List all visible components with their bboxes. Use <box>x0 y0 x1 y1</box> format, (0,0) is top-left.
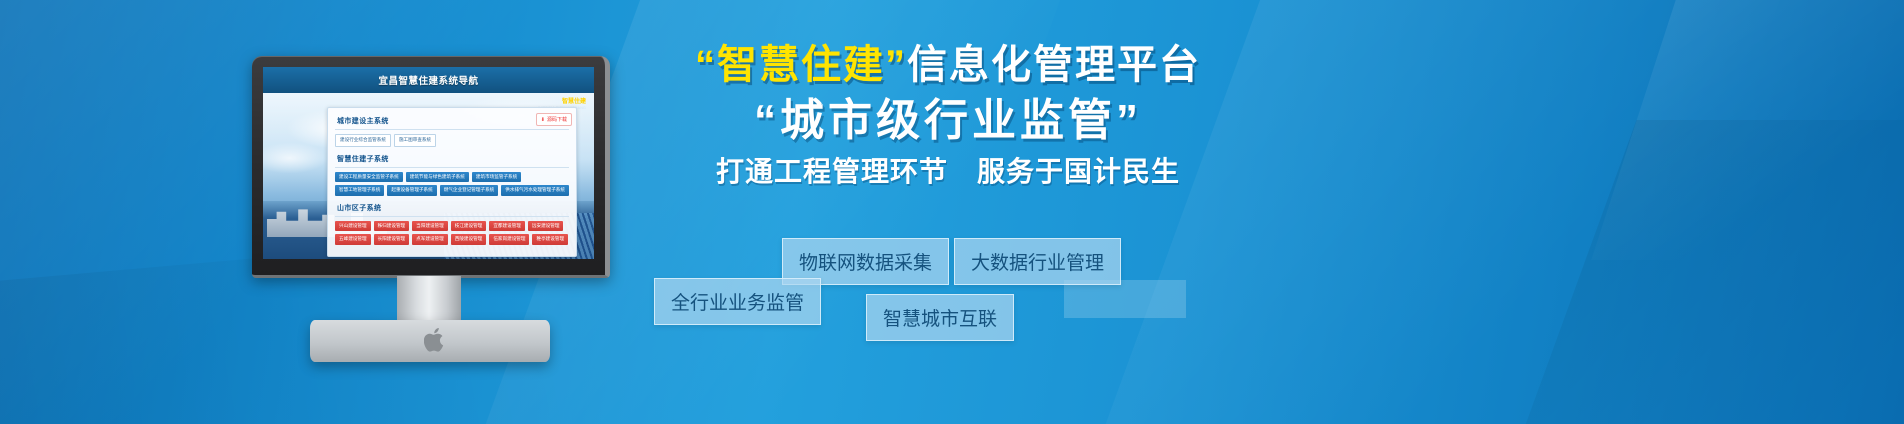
nav-chip[interactable]: 西陵建设管理 <box>451 234 487 245</box>
apple-logo-icon <box>423 328 445 354</box>
download-badge[interactable]: ⬇ 源码下载 <box>536 113 572 126</box>
nav-chip[interactable]: 供水排气污水处理管理子系统 <box>501 185 569 196</box>
nav-chip[interactable]: 点军建设管理 <box>412 234 448 245</box>
feature-tag-industry-supervision[interactable]: 全行业业务监管 <box>654 278 821 325</box>
imac-monitor-mockup: 宜昌智慧住建系统导航 智慧住建 WISDOM CITY · YICHANG ⬇ … <box>252 56 610 306</box>
screen-title: 宜昌智慧住建系统导航 <box>378 73 478 87</box>
section-chip-list: 建设工程质量安全监管子系统 建筑节能与绿色建筑子系统 建筑市场监管子系统 智慧工… <box>335 172 569 196</box>
headline-block: “智慧住建”信息化管理平台 “城市级行业监管” 打通工程管理环节 服务于国计民生 <box>648 44 1248 188</box>
headline-quote-open: “ <box>695 43 717 87</box>
nav-chip[interactable]: 五峰建设管理 <box>335 234 371 245</box>
nav-chip[interactable]: 枝江建设管理 <box>451 221 487 232</box>
background-facet <box>1484 120 1904 424</box>
screen-content: 智慧住建 WISDOM CITY · YICHANG ⬇ 源码下载 城市建设主系… <box>263 93 594 259</box>
download-icon: ⬇ <box>541 117 545 123</box>
monitor-bezel: 宜昌智慧住建系统导航 智慧住建 WISDOM CITY · YICHANG ⬇ … <box>252 56 610 278</box>
feature-tag-smart-city[interactable]: 智慧城市互联 <box>866 294 1014 341</box>
section-title: 山市区子系统 <box>335 200 569 217</box>
monitor-base <box>310 320 550 362</box>
monitor-neck <box>397 276 461 324</box>
nav-chip[interactable]: 当阳建设管理 <box>412 221 448 232</box>
nav-chip[interactable]: 施工图审查系统 <box>394 134 436 147</box>
nav-chip[interactable]: 起重设备管理子系统 <box>387 185 436 196</box>
promo-banner: 宜昌智慧住建系统导航 智慧住建 WISDOM CITY · YICHANG ⬇ … <box>0 0 1904 424</box>
headline-line-3: 打通工程管理环节 服务于国计民生 <box>648 157 1248 188</box>
headline-quote-close: ” <box>885 43 907 87</box>
download-badge-label: 源码下载 <box>547 116 567 123</box>
monitor-screen: 宜昌智慧住建系统导航 智慧住建 WISDOM CITY · YICHANG ⬇ … <box>263 67 594 259</box>
nav-chip[interactable]: 宜都建设管理 <box>489 221 525 232</box>
headline-highlight: 智慧住建 <box>717 43 885 87</box>
section-title: 城市建设主系统 <box>335 113 569 130</box>
screen-title-bar: 宜昌智慧住建系统导航 <box>263 67 594 93</box>
nav-chip[interactable]: 远安建设管理 <box>528 221 564 232</box>
nav-chip[interactable]: 长阳建设管理 <box>374 234 410 245</box>
headline-line-2: “城市级行业监管” <box>648 97 1248 145</box>
nav-chip[interactable]: 燃气企业登记管理子系统 <box>440 185 499 196</box>
section-title: 智慧住建子系统 <box>335 151 569 168</box>
decorative-tag-shadow <box>1064 280 1186 318</box>
background-facet <box>1591 0 1904 260</box>
nav-chip[interactable]: 兴山建设管理 <box>335 221 371 232</box>
navigation-panel: ⬇ 源码下载 城市建设主系统 建设行业综合监管系统 施工图审查系统 智慧住建子系… <box>327 107 577 257</box>
nav-chip[interactable]: 建筑市场监管子系统 <box>472 172 521 183</box>
nav-chip[interactable]: 建设行业综合监管系统 <box>335 134 391 147</box>
nav-chip[interactable]: 伍家岗建设管理 <box>489 234 529 245</box>
headline-line-1: “智慧住建”信息化管理平台 <box>648 44 1248 87</box>
nav-chip[interactable]: 稚亭建设管理 <box>532 234 568 245</box>
nav-chip[interactable]: 秭归建设管理 <box>374 221 410 232</box>
feature-tag-bigdata-industry[interactable]: 大数据行业管理 <box>954 238 1121 285</box>
nav-chip[interactable]: 建筑节能与绿色建筑子系统 <box>406 172 469 183</box>
section-chip-list: 建设行业综合监管系统 施工图审查系统 <box>335 134 569 147</box>
nav-chip[interactable]: 智慧工地管理子系统 <box>335 185 384 196</box>
section-chip-list: 兴山建设管理 秭归建设管理 当阳建设管理 枝江建设管理 宜都建设管理 远安建设管… <box>335 221 569 245</box>
headline-rest: 信息化管理平台 <box>907 43 1201 87</box>
nav-chip[interactable]: 建设工程质量安全监管子系统 <box>335 172 403 183</box>
site-logo-main: 智慧住建 <box>562 96 586 105</box>
